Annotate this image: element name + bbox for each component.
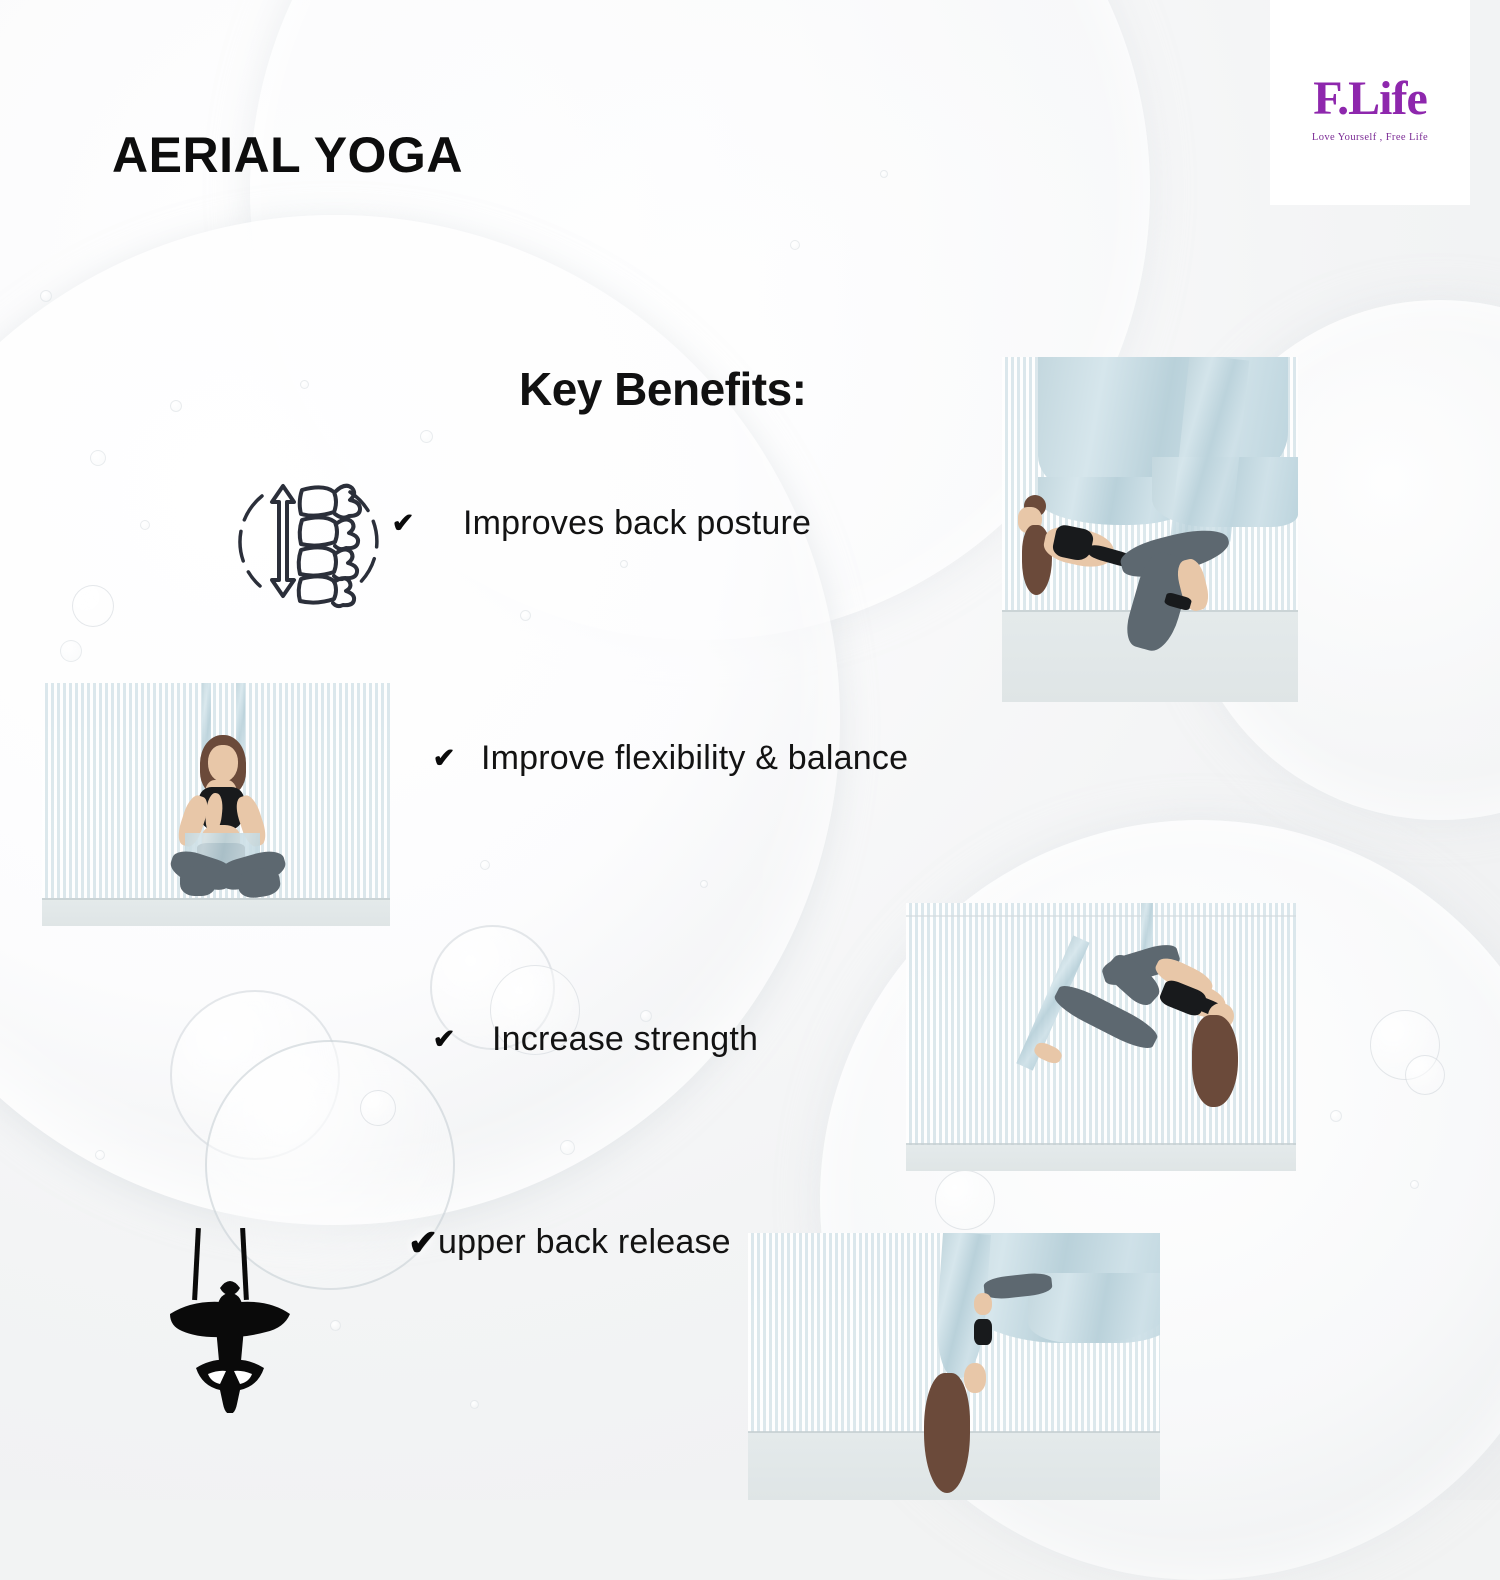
photo-inverted-extended-pose-in-hammock — [906, 903, 1296, 1171]
benefit-item-improves-back-posture: ✔ Improves back posture — [388, 504, 811, 543]
water-droplet — [520, 610, 531, 621]
photo-seated-prayer-pose-in-hammock — [42, 683, 390, 926]
water-droplet — [790, 240, 800, 250]
water-bubble-ring — [1405, 1055, 1445, 1095]
benefit-item-improve-flexibility-balance: ✔ Improve flexibility & balance — [429, 739, 908, 778]
check-icon: ✔ — [388, 510, 418, 537]
check-icon: ✔ — [429, 745, 459, 772]
water-droplet — [480, 860, 490, 870]
water-droplet — [470, 1400, 479, 1409]
water-droplet — [880, 170, 888, 178]
logo-tagline: Love Yourself , Free Life — [1312, 132, 1428, 143]
water-droplet — [140, 520, 150, 530]
water-droplet — [420, 430, 433, 443]
benefit-item-increase-strength: ✔ Increase strength — [429, 1020, 758, 1059]
aerial-yoga-hammock-silhouette-icon — [158, 1228, 303, 1413]
water-droplet — [300, 380, 309, 389]
page-title: AERIAL YOGA — [112, 126, 463, 184]
check-icon: ✔ — [408, 1225, 438, 1261]
water-droplet — [170, 400, 182, 412]
water-bubble-ring — [360, 1090, 396, 1126]
benefit-label: Improves back posture — [463, 504, 811, 543]
benefit-label: upper back release — [438, 1223, 731, 1262]
water-droplet — [1330, 1110, 1342, 1122]
water-bubble-ring — [72, 585, 114, 627]
water-droplet — [700, 880, 708, 888]
photo-aerial-backbend-in-hammock — [1002, 357, 1298, 702]
photo-full-inversion-hanging-in-hammock — [748, 1233, 1160, 1500]
water-droplet — [330, 1320, 341, 1331]
benefit-label: Improve flexibility & balance — [481, 739, 908, 778]
water-droplet — [560, 1140, 575, 1155]
water-droplet — [40, 290, 52, 302]
brand-logo: F.Life Love Yourself , Free Life — [1270, 0, 1470, 205]
water-droplet — [95, 1150, 105, 1160]
benefit-item-upper-back-release: ✔ upper back release — [408, 1223, 731, 1262]
water-bubble-ring — [935, 1170, 995, 1230]
benefits-heading: Key Benefits: — [519, 362, 806, 416]
water-droplet — [60, 640, 82, 662]
check-icon: ✔ — [429, 1026, 459, 1053]
spine-vertebrae-icon — [232, 468, 392, 613]
water-droplet — [620, 560, 628, 568]
benefit-label: Increase strength — [492, 1020, 758, 1059]
water-droplet — [1410, 1180, 1419, 1189]
water-droplet — [90, 450, 106, 466]
logo-wordmark: F.Life — [1313, 75, 1427, 123]
